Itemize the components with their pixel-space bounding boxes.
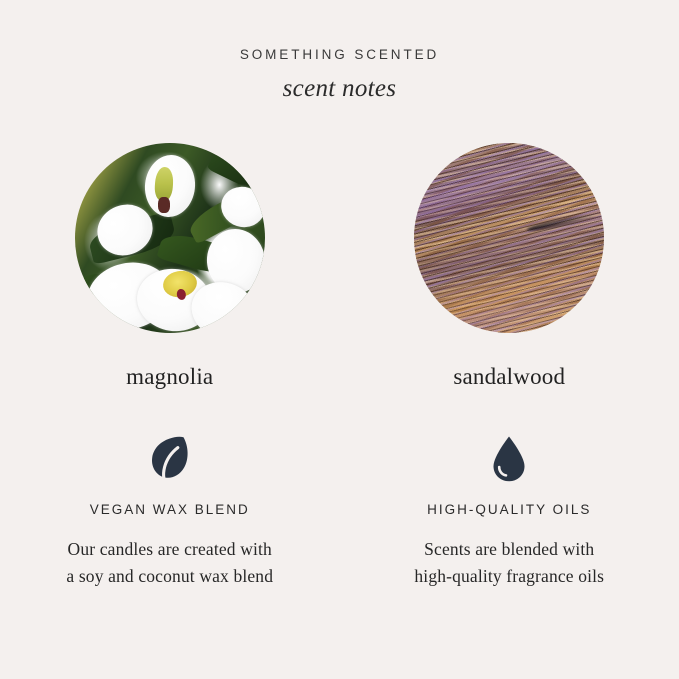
magnolia-flower-photo <box>75 143 265 333</box>
page-title: scent notes <box>0 76 679 101</box>
feature-description-line-2: a soy and coconut wax blend <box>66 563 273 590</box>
feature-title: HIGH-QUALITY OILS <box>427 503 591 517</box>
feature-description-line-1: Our candles are created with <box>66 536 273 563</box>
sandalwood-grain-photo <box>414 143 604 333</box>
feature-description-line-2: high-quality fragrance oils <box>414 563 604 590</box>
scent-notes-row: magnolia sandalwood <box>0 143 679 388</box>
magnolia-image-circle <box>75 143 265 333</box>
feature-description: Scents are blended with high-quality fra… <box>414 536 604 590</box>
scent-note-label: magnolia <box>126 365 213 388</box>
scent-note-label: sandalwood <box>453 365 565 388</box>
feature-description: Our candles are created with a soy and c… <box>66 536 273 590</box>
sandalwood-image-circle <box>414 143 604 333</box>
scent-note-sandalwood: sandalwood <box>340 143 679 388</box>
droplet-icon <box>486 434 532 484</box>
page-header: SOMETHING SCENTED scent notes <box>0 48 679 101</box>
magnolia-bud-base <box>158 197 170 213</box>
feature-vegan-wax-blend: VEGAN WAX BLEND Our candles are created … <box>0 434 340 590</box>
features-row: VEGAN WAX BLEND Our candles are created … <box>0 434 679 590</box>
scent-note-magnolia: magnolia <box>0 143 340 388</box>
leaf-icon <box>147 434 193 484</box>
feature-high-quality-oils: HIGH-QUALITY OILS Scents are blended wit… <box>340 434 679 590</box>
feature-description-line-1: Scents are blended with <box>414 536 604 563</box>
feature-title: VEGAN WAX BLEND <box>90 503 250 517</box>
eyebrow-text: SOMETHING SCENTED <box>0 48 679 62</box>
